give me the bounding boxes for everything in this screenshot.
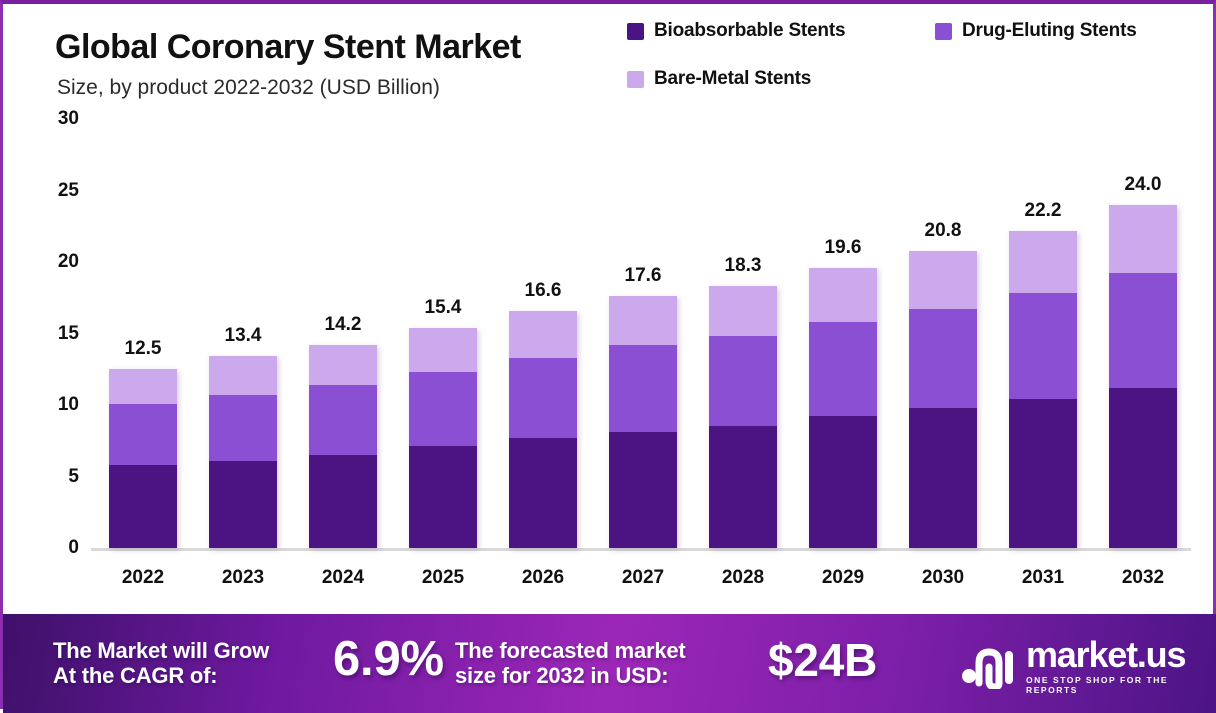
bar-total-label: 17.6 <box>593 265 693 287</box>
bar-segment <box>409 372 477 446</box>
y-axis-tick: 10 <box>58 394 79 416</box>
x-axis-label: 2032 <box>1093 567 1193 589</box>
bar-segment <box>709 286 777 336</box>
bar-segment <box>309 345 377 385</box>
page-title: Global Coronary Stent Market <box>55 28 521 67</box>
bar-column[interactable]: 17.6 <box>593 119 693 548</box>
forecast-label: The forecasted marketsize for 2032 in US… <box>455 638 686 688</box>
bar-segment <box>909 408 977 548</box>
bar-total-label: 14.2 <box>293 314 393 336</box>
bar-total-label: 12.5 <box>93 338 193 360</box>
bar-stack <box>209 356 277 548</box>
bar-segment <box>1109 205 1177 274</box>
bar-segment <box>109 465 177 548</box>
bar-segment <box>609 432 677 548</box>
x-axis-label: 2023 <box>193 567 293 589</box>
bar-column[interactable]: 15.4 <box>393 119 493 548</box>
y-axis: 051015202530 <box>3 119 93 614</box>
y-axis-tick: 5 <box>68 466 79 488</box>
bar-segment <box>409 446 477 548</box>
bar-total-label: 13.4 <box>193 325 293 347</box>
chart-page: Global Coronary Stent Market Size, by pr… <box>0 0 1216 709</box>
x-axis-label: 2031 <box>993 567 1093 589</box>
bar-segment <box>1109 273 1177 387</box>
bar-stack <box>1009 231 1077 548</box>
x-axis-labels: 2022202320242025202620272028202920302031… <box>93 556 1193 600</box>
bar-total-label: 18.3 <box>693 255 793 277</box>
bar-stack <box>1109 205 1177 548</box>
bar-segment <box>309 385 377 455</box>
bar-segment <box>209 356 277 395</box>
bar-total-label: 15.4 <box>393 297 493 319</box>
cagr-value: 6.9% <box>333 632 444 688</box>
bar-total-label: 16.6 <box>493 280 593 302</box>
bottom-banner: The Market will GrowAt the CAGR of: 6.9%… <box>3 614 1216 713</box>
bar-segment <box>809 322 877 416</box>
cagr-label: The Market will GrowAt the CAGR of: <box>53 638 269 688</box>
legend-swatch-icon <box>627 71 644 88</box>
x-axis-label: 2024 <box>293 567 393 589</box>
logo-tagline: ONE STOP SHOP FOR THE REPORTS <box>1026 675 1216 695</box>
legend-item-bioabsorbable-stents[interactable]: Bioabsorbable Stents <box>627 20 845 42</box>
bar-segment <box>509 438 577 548</box>
legend-item-drug-eluting-stents[interactable]: Drug-Eluting Stents <box>935 20 1137 42</box>
logo-name: market.us <box>1026 638 1216 672</box>
bar-segment <box>709 336 777 426</box>
bar-total-label: 19.6 <box>793 237 893 259</box>
bar-segment <box>709 426 777 548</box>
legend-swatch-icon <box>627 23 644 40</box>
bar-stack <box>809 268 877 548</box>
bar-segment <box>1109 388 1177 548</box>
bar-segment <box>1009 231 1077 294</box>
bar-segment <box>509 311 577 358</box>
bar-stack <box>409 328 477 548</box>
bar-segment <box>809 268 877 322</box>
x-axis-label: 2026 <box>493 567 593 589</box>
y-axis-tick: 30 <box>58 108 79 130</box>
y-axis-tick: 25 <box>58 180 79 202</box>
bar-segment <box>209 395 277 461</box>
bar-column[interactable]: 14.2 <box>293 119 393 548</box>
legend-label: Bare-Metal Stents <box>654 68 811 90</box>
bar-series-container: 12.513.414.215.416.617.618.319.620.822.2… <box>93 119 1193 548</box>
chart-legend: Bioabsorbable Stents Drug-Eluting Stents… <box>615 12 1215 102</box>
x-axis-line <box>91 548 1191 551</box>
bar-segment <box>409 328 477 372</box>
page-subtitle: Size, by product 2022-2032 (USD Billion) <box>57 76 440 100</box>
bar-segment <box>109 369 177 403</box>
x-axis-label: 2025 <box>393 567 493 589</box>
bar-column[interactable]: 12.5 <box>93 119 193 548</box>
bar-segment <box>209 461 277 548</box>
bar-segment <box>509 358 577 438</box>
y-axis-tick: 20 <box>58 251 79 273</box>
chart-plot-area: 051015202530 12.513.414.215.416.617.618.… <box>3 119 1216 614</box>
bar-column[interactable]: 19.6 <box>793 119 893 548</box>
bar-segment <box>609 296 677 345</box>
legend-label: Drug-Eluting Stents <box>962 20 1137 42</box>
x-axis-label: 2022 <box>93 567 193 589</box>
bar-total-label: 20.8 <box>893 220 993 242</box>
market-us-logo[interactable]: market.us ONE STOP SHOP FOR THE REPORTS <box>961 638 1216 695</box>
bar-segment <box>1009 399 1077 548</box>
bar-segment <box>909 251 977 310</box>
legend-item-bare-metal-stents[interactable]: Bare-Metal Stents <box>627 68 811 90</box>
legend-swatch-icon <box>935 23 952 40</box>
x-axis-label: 2028 <box>693 567 793 589</box>
bar-segment <box>609 345 677 432</box>
bar-column[interactable]: 20.8 <box>893 119 993 548</box>
y-axis-tick: 15 <box>58 323 79 345</box>
x-axis-label: 2029 <box>793 567 893 589</box>
bar-stack <box>509 311 577 548</box>
bar-column[interactable]: 24.0 <box>1093 119 1193 548</box>
bar-segment <box>309 455 377 548</box>
bar-stack <box>309 345 377 548</box>
bar-column[interactable]: 16.6 <box>493 119 593 548</box>
x-axis-label: 2027 <box>593 567 693 589</box>
y-axis-tick: 0 <box>68 537 79 559</box>
forecast-value: $24B <box>768 634 877 686</box>
x-axis-label: 2030 <box>893 567 993 589</box>
bar-segment <box>1009 293 1077 399</box>
bar-segment <box>909 309 977 408</box>
bar-segment <box>809 416 877 548</box>
bar-stack <box>609 296 677 548</box>
bar-column[interactable]: 13.4 <box>193 119 293 548</box>
bar-column[interactable]: 18.3 <box>693 119 793 548</box>
legend-label: Bioabsorbable Stents <box>654 20 845 42</box>
bar-total-label: 22.2 <box>993 200 1093 222</box>
bar-column[interactable]: 22.2 <box>993 119 1093 548</box>
bar-stack <box>109 369 177 548</box>
bar-stack <box>709 286 777 548</box>
bar-segment <box>109 404 177 465</box>
bar-total-label: 24.0 <box>1093 174 1193 196</box>
bar-stack <box>909 251 977 548</box>
market-us-logo-icon <box>961 645 1017 689</box>
